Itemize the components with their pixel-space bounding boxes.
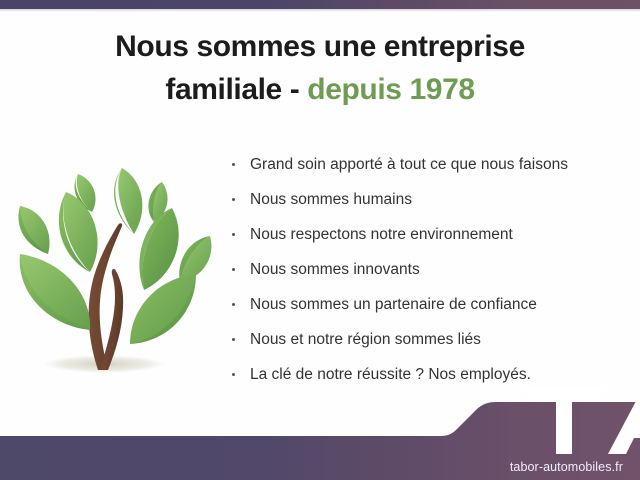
list-item-label: Nous sommes humains	[250, 191, 412, 208]
tree-icon	[12, 152, 218, 388]
brand-tagline: tabor-automobiles.fr	[426, 460, 626, 474]
list-item-label: Nous respectons notre environnement	[250, 226, 513, 243]
brand-logo[interactable]: tabor-automobiles.fr	[426, 378, 626, 474]
page-title: Nous sommes une entreprise familiale - d…	[0, 26, 640, 111]
footer-bar: tabor-automobiles.fr	[0, 400, 640, 480]
top-accent-bar-shadow	[0, 9, 640, 12]
list-item-label: Nous sommes innovants	[250, 261, 420, 278]
list-item: Grand soin apporté à tout ce que nous fa…	[228, 147, 628, 182]
list-item-label: Grand soin apporté à tout ce que nous fa…	[250, 156, 568, 173]
tabor-wordmark-icon	[426, 378, 640, 458]
list-item-label: Nous sommes un partenaire de confiance	[250, 296, 537, 313]
list-item: Nous sommes innovants	[228, 252, 628, 287]
bullet-icon	[232, 303, 235, 306]
value-proposition-list: Grand soin apporté à tout ce que nous fa…	[228, 147, 628, 392]
bullet-icon	[232, 268, 235, 271]
list-item: Nous respectons notre environnement	[228, 217, 628, 252]
page-title-line-2-black: familiale -	[165, 73, 307, 106]
page-title-line-2: familiale - depuis 1978	[0, 69, 640, 112]
tree-leaf	[142, 208, 178, 290]
slide-root: Nous sommes une entreprise familiale - d…	[0, 0, 640, 480]
page-title-line-1: Nous sommes une entreprise	[0, 26, 640, 69]
list-item: Nous sommes humains	[228, 182, 628, 217]
bullet-icon	[232, 163, 235, 166]
list-item-label: Nous et notre région sommes liés	[250, 331, 481, 348]
bullet-icon	[232, 198, 235, 201]
bullet-icon	[232, 233, 235, 236]
bullet-icon	[232, 338, 235, 341]
list-item: Nous et notre région sommes liés	[228, 322, 628, 357]
bullet-icon	[232, 373, 235, 376]
top-accent-bar	[0, 0, 640, 9]
list-item: Nous sommes un partenaire de confiance	[228, 287, 628, 322]
page-title-accent: depuis 1978	[307, 73, 474, 106]
